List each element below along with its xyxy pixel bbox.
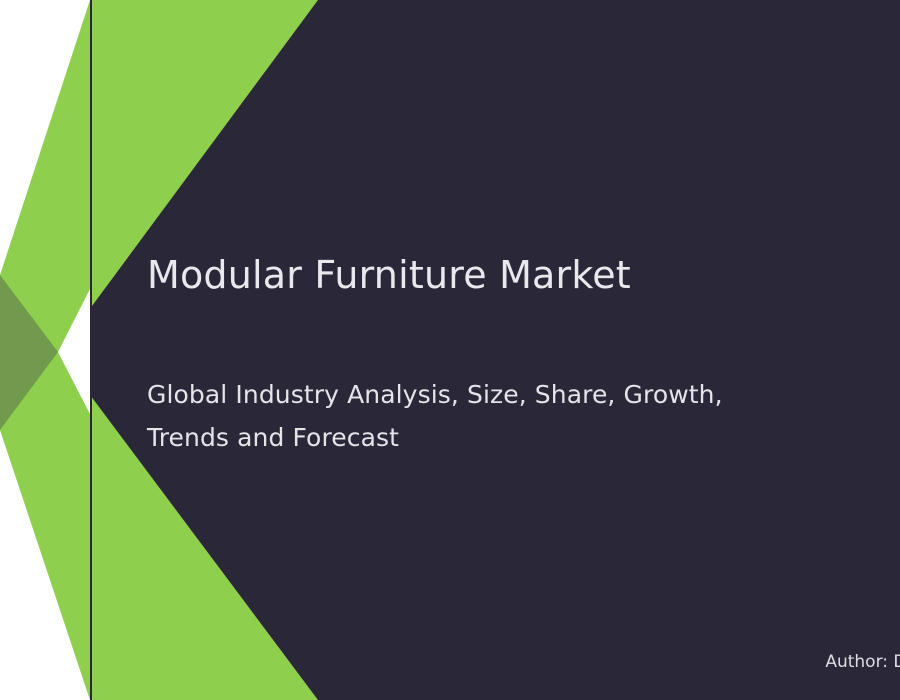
- author-label: Author: Data: [825, 652, 900, 672]
- author-line: Author: Data: [480, 652, 900, 672]
- slide-subtitle: Global Industry Analysis, Size, Share, G…: [147, 373, 787, 459]
- slide-content: Modular Furniture Market Global Industry…: [0, 0, 900, 700]
- slide-title: Modular Furniture Market: [147, 254, 847, 298]
- title-slide: Modular Furniture Market Global Industry…: [0, 0, 900, 700]
